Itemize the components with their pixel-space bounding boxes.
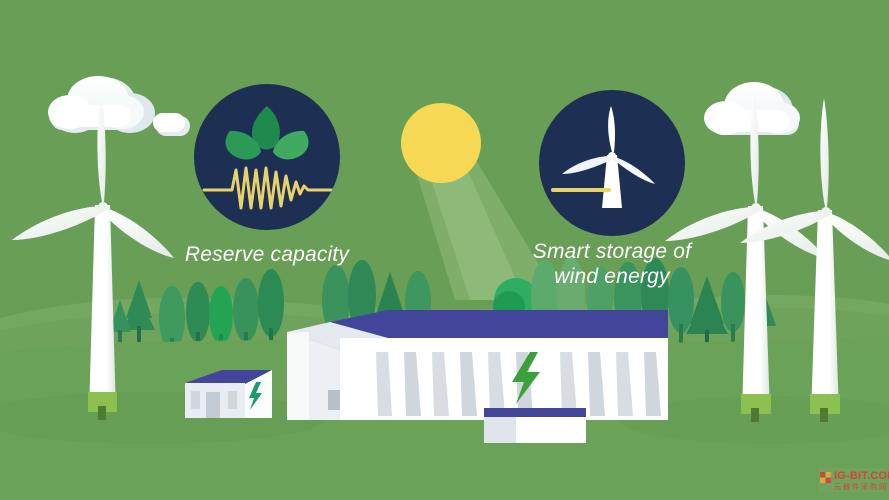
facility-roof [330,310,668,338]
watermark-subtext: 元器件采购网 [834,482,888,491]
house-window-right [228,391,237,409]
turbine-hub [98,202,108,212]
badge-smart-storage[interactable]: Smart storage of wind energy [533,90,693,288]
annex-block [484,408,586,443]
badge-label-line-2: wind energy [554,265,671,288]
icon-hub [608,152,616,160]
house-door [206,392,220,418]
storage-facility [287,310,668,420]
badge-label: Reserve capacity [185,243,351,266]
annex-roof [484,408,586,417]
house-window-left [191,391,200,409]
facility-service-door [328,390,340,410]
icon-ground-line [551,188,611,192]
turbine-foot [98,406,106,420]
badge-circle [194,84,340,230]
annex-wall-right [516,417,586,443]
watermark: IG-BIT.COM 元器件采购网 [818,468,889,492]
watermark-text: IG-BIT.COM [834,470,889,482]
illustration-scene: Reserve capacity Smart storage of wind e… [0,0,889,500]
scene-svg: Reserve capacity Smart storage of wind e… [0,0,889,500]
badge-label-line-1: Smart storage of [533,240,693,263]
annex-wall-left [484,417,516,443]
facility-left-wall-light [287,332,309,420]
sun [401,103,481,183]
